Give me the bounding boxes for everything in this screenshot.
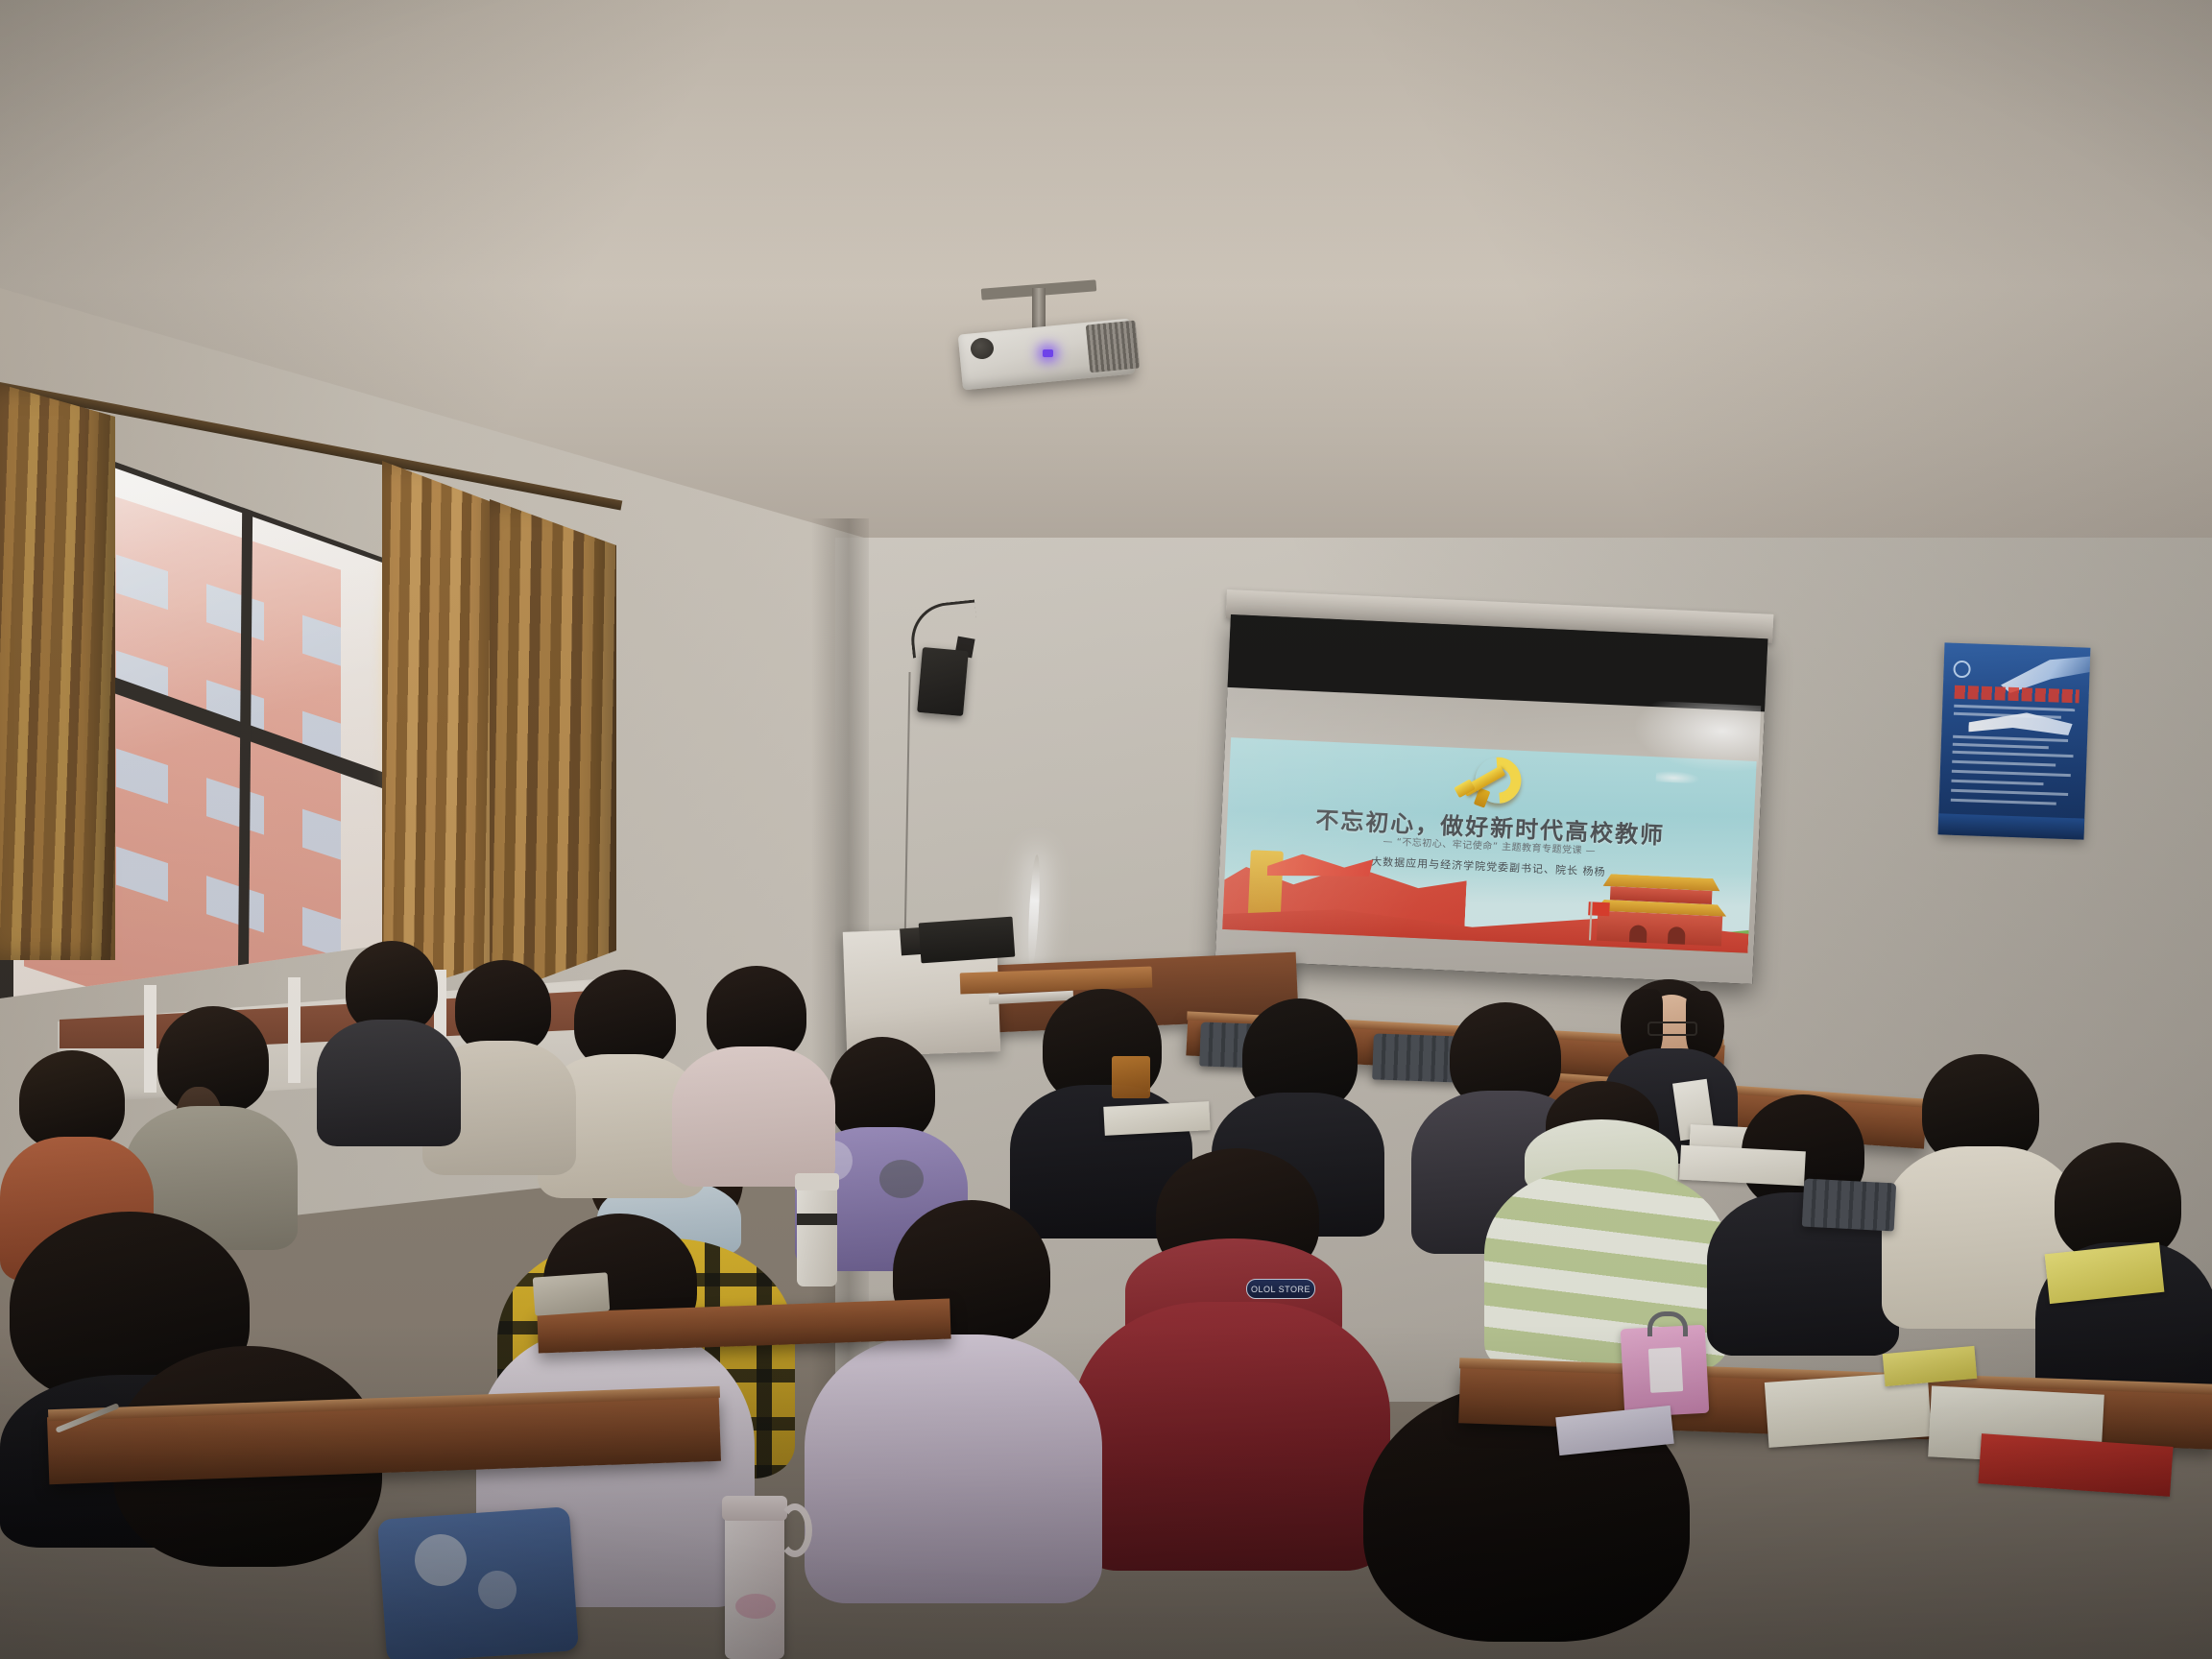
ceiling-shadow-right (1348, 0, 2212, 595)
white-thermos[interactable] (797, 1181, 837, 1286)
projector-vent-icon (1086, 321, 1141, 373)
person-foreground-left2 (113, 1346, 430, 1659)
bottle-strap (778, 1503, 812, 1557)
curtain-middle[interactable] (382, 461, 502, 998)
person-lavender-jacket (805, 1214, 1102, 1598)
lectern-monitor (919, 917, 1016, 964)
open-book[interactable] (1679, 1145, 1806, 1187)
wall-poster (1938, 642, 2091, 839)
chair[interactable] (1802, 1179, 1896, 1232)
hoodie-brand-badge: OLOL STORE (1246, 1279, 1315, 1299)
bottle-floral-print (735, 1594, 776, 1619)
projection-screen[interactable]: 不忘初心，做好新时代高校教师 — “不忘初心、牢记使命” 主题教育专题党课 — … (1215, 614, 1768, 984)
projector-power-led-icon (1043, 349, 1053, 357)
desk-item[interactable] (533, 1272, 611, 1315)
curtain-right[interactable] (490, 499, 616, 998)
thermos-cap (795, 1173, 839, 1190)
eyeglasses-icon (1647, 1022, 1697, 1036)
person-back-left (317, 941, 461, 1133)
curtain-left[interactable] (0, 384, 115, 960)
thermos-band (797, 1214, 837, 1225)
person-red-hoodie: OLOL STORE (1073, 1158, 1390, 1561)
handbag-handle (1647, 1311, 1688, 1336)
person-green-striped-hoodie (1479, 1087, 1728, 1365)
amber-tea-cup[interactable] (1112, 1056, 1150, 1098)
poster-heading (1955, 685, 2080, 704)
person-pink-jacket (672, 966, 835, 1172)
poster-seal-icon (1953, 661, 1971, 679)
handbag-label (1648, 1347, 1683, 1393)
classroom-scene: 不忘初心，做好新时代高校教师 — “不忘初心、牢记使命” 主题教育专题党课 — … (0, 0, 2212, 1659)
floral-water-bottle[interactable] (725, 1503, 784, 1659)
bottle-cap (722, 1496, 787, 1521)
screen-glare-hotspot (1633, 700, 1761, 773)
papers[interactable] (1103, 1101, 1210, 1136)
wall-speaker (917, 647, 969, 716)
